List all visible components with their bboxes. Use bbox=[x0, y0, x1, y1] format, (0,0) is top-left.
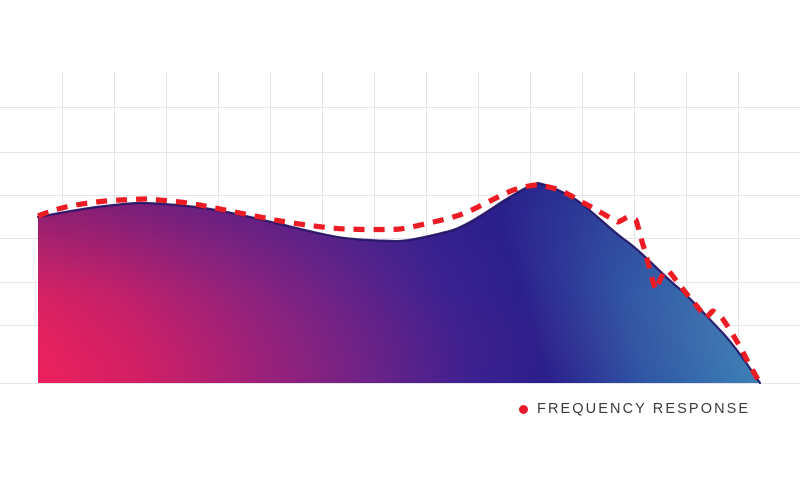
frequency-response-chart: FREQUENCY RESPONSE bbox=[0, 0, 800, 500]
chart-legend: FREQUENCY RESPONSE bbox=[519, 399, 750, 419]
legend-item-label: FREQUENCY RESPONSE bbox=[537, 402, 750, 417]
legend-marker-dot bbox=[519, 405, 528, 414]
chart-canvas bbox=[0, 0, 800, 500]
